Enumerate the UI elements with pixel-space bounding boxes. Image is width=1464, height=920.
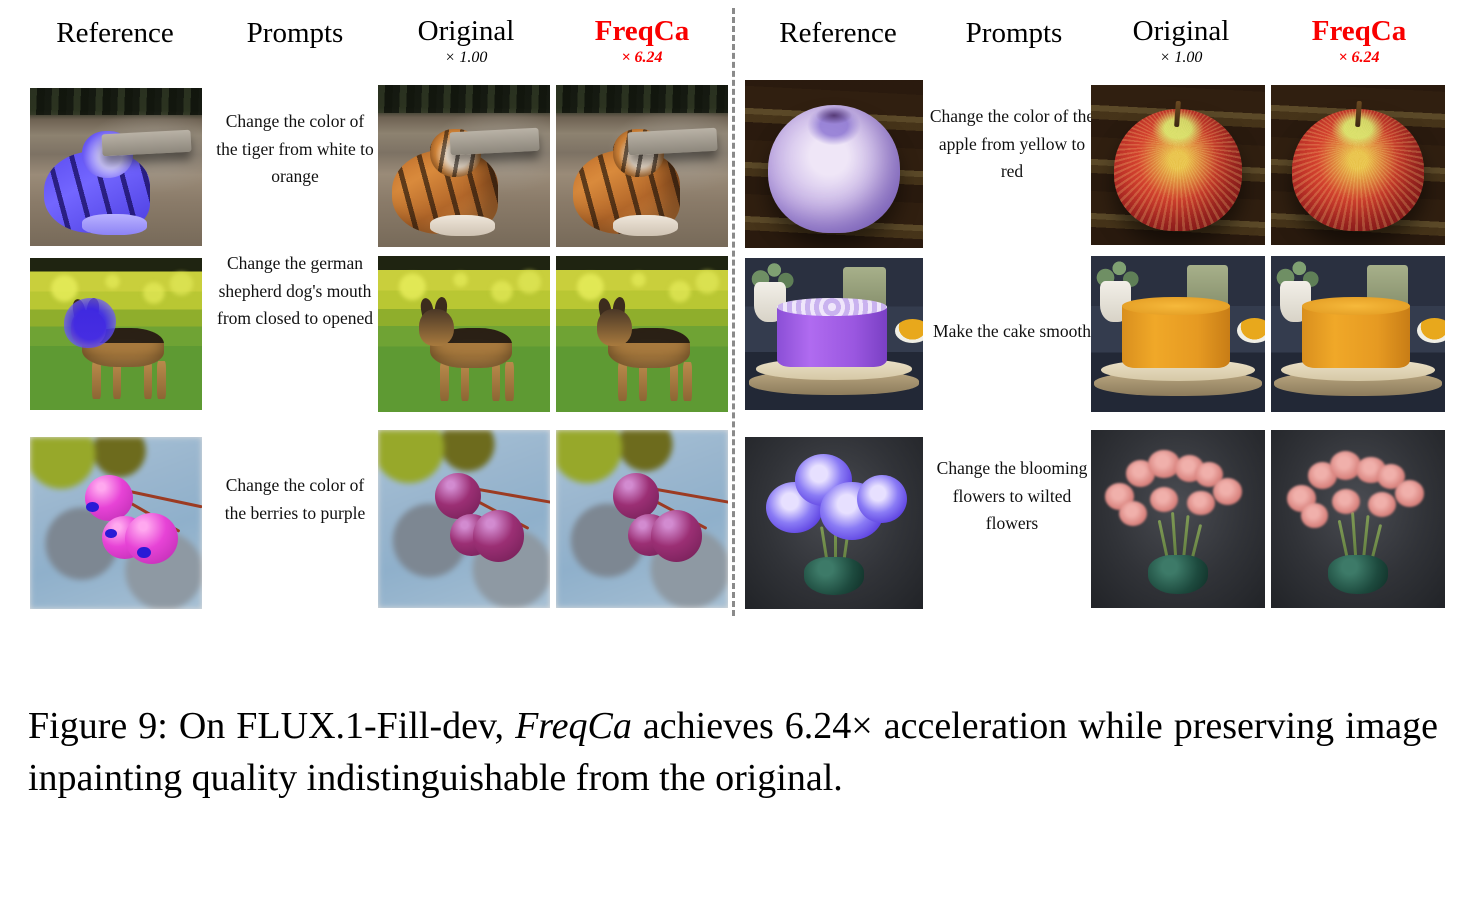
freqca-image-berries bbox=[556, 430, 728, 608]
header-original-speed-right: × 1.00 bbox=[1093, 49, 1269, 67]
berry-3 bbox=[125, 513, 178, 565]
original-image-berries bbox=[378, 430, 550, 608]
tiger-scene-original bbox=[378, 85, 550, 247]
prompt-text-dog: Change the german shepherd dog's mouth f… bbox=[214, 250, 376, 333]
header-method-speed-right: × 6.24 bbox=[1271, 49, 1447, 67]
header-prompts-right: Prompts bbox=[931, 18, 1097, 48]
freqca-image-apple bbox=[1271, 85, 1445, 245]
prompt-text-berries: Change the color of the berries to purpl… bbox=[214, 472, 376, 527]
apple-scene-masked bbox=[745, 80, 923, 248]
header-original-right: Original × 1.00 bbox=[1093, 16, 1269, 67]
reference-image-apple bbox=[745, 80, 923, 248]
panel-left: Reference Prompts Original × 1.00 FreqCa… bbox=[0, 0, 733, 625]
reference-image-tiger bbox=[30, 88, 202, 246]
reference-image-dog bbox=[30, 258, 202, 410]
freqca-image-dog bbox=[556, 256, 728, 412]
header-reference-left: Reference bbox=[22, 18, 208, 48]
original-image-tiger bbox=[378, 85, 550, 247]
prompt-text-apple: Change the color of the apple from yello… bbox=[929, 103, 1095, 186]
flowers-scene-masked bbox=[745, 437, 923, 609]
berry-3 bbox=[651, 510, 703, 562]
header-reference-right: Reference bbox=[745, 18, 931, 48]
flowers-scene-original bbox=[1091, 430, 1265, 608]
freqca-image-tiger bbox=[556, 85, 728, 247]
tiger-scene-masked bbox=[30, 88, 202, 246]
flowers-scene-freqca bbox=[1271, 430, 1445, 608]
original-image-flowers bbox=[1091, 430, 1265, 608]
original-image-dog bbox=[378, 256, 550, 412]
header-method-right: FreqCa × 6.24 bbox=[1271, 16, 1447, 67]
prompt-text-cake: Make the cake smooth bbox=[929, 318, 1095, 346]
cake-scene-masked bbox=[745, 258, 923, 410]
tiger-scene-freqca bbox=[556, 85, 728, 247]
panel-right: Reference Prompts Original × 1.00 FreqCa… bbox=[733, 0, 1464, 625]
berry-1 bbox=[613, 473, 659, 519]
header-original-speed-left: × 1.00 bbox=[378, 49, 554, 67]
header-method-speed-left: × 6.24 bbox=[554, 49, 730, 67]
dog-scene-original bbox=[378, 256, 550, 412]
berry-3 bbox=[473, 510, 525, 562]
berry-1 bbox=[435, 473, 481, 519]
original-image-apple bbox=[1091, 85, 1265, 245]
caption-prefix: Figure 9: On FLUX.1-Fill-dev, bbox=[28, 705, 515, 747]
original-image-cake bbox=[1091, 256, 1265, 412]
dog-scene-masked bbox=[30, 258, 202, 410]
freqca-image-flowers bbox=[1271, 430, 1445, 608]
berry-1 bbox=[85, 475, 133, 521]
header-method-left: FreqCa × 6.24 bbox=[554, 16, 730, 67]
prompt-text-flowers: Change the blooming flowers to wilted fl… bbox=[929, 455, 1095, 538]
cake-scene-original bbox=[1091, 256, 1265, 412]
reference-image-cake bbox=[745, 258, 923, 410]
apple-scene-freqca bbox=[1271, 85, 1445, 245]
header-original-left: Original × 1.00 bbox=[378, 16, 554, 67]
figure-container: Reference Prompts Original × 1.00 FreqCa… bbox=[0, 0, 1464, 920]
apple-scene-original bbox=[1091, 85, 1265, 245]
header-prompts-left: Prompts bbox=[212, 18, 378, 48]
dog-scene-freqca bbox=[556, 256, 728, 412]
cake-scene-freqca bbox=[1271, 256, 1445, 412]
freqca-image-cake bbox=[1271, 256, 1445, 412]
reference-image-flowers bbox=[745, 437, 923, 609]
reference-image-berries bbox=[30, 437, 202, 609]
caption-method-name: FreqCa bbox=[515, 705, 632, 747]
figure-caption: Figure 9: On FLUX.1-Fill-dev, FreqCa ach… bbox=[28, 700, 1438, 805]
prompt-text-tiger: Change the color of the tiger from white… bbox=[214, 108, 376, 191]
